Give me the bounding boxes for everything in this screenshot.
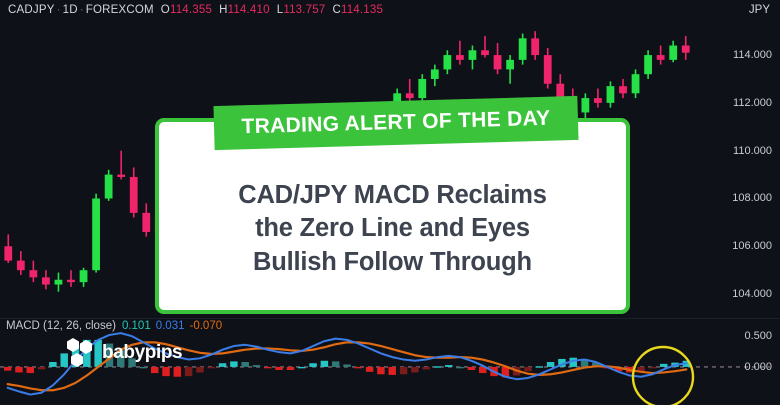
symbol-info: CADJPY·1D·FOREXCOMO114.355H114.410L113.7… [8,4,383,16]
macd-legend-title: MACD (12, 26, close) [6,320,116,332]
price-axis-tick: 110.000 [733,145,772,157]
header-separator-1: · [55,4,63,16]
symbol-name[interactable]: CADJPY [8,4,55,16]
price-axis-tick: 108.000 [732,192,772,204]
currency-code-label: JPY [749,4,770,16]
macd-axis-tick: 0.000 [744,361,772,373]
macd-hist-value: 0.101 [122,320,151,332]
babypips-wordmark: babypips [102,342,182,364]
panel-divider [0,318,780,319]
exchange-label[interactable]: FOREXCOM [86,4,154,16]
close-value: 114.135 [341,4,383,16]
high-value: 114.410 [228,4,270,16]
headline-line-3: Bullish Follow Through [253,246,532,279]
macd-legend[interactable]: MACD (12, 26, close)0.1010.031-0.070 [6,320,222,332]
alert-banner-text: TRADING ALERT OF THE DAY [241,107,551,140]
open-value: 114.355 [170,4,212,16]
macd-signal-value: -0.070 [190,320,223,332]
babypips-logo: babypips [62,338,182,368]
macd-axis-tick: 0.500 [744,330,772,342]
high-label: H [219,4,228,16]
timeframe-label[interactable]: 1D [63,4,78,16]
price-axis-tick: 106.000 [732,240,772,252]
hexagon-logo-icon [62,338,96,368]
chart-header: CADJPY·1D·FOREXCOMO114.355H114.410L113.7… [0,0,780,24]
price-axis-tick: 114.000 [733,49,772,61]
header-separator-2: · [78,4,86,16]
open-label: O [161,4,170,16]
trading-chart-screenshot: CADJPY·1D·FOREXCOMO114.355H114.410L113.7… [0,0,780,405]
macd-line-value: 0.031 [156,320,185,332]
headline-line-2: the Zero Line and Eyes [255,212,530,245]
low-value: 113.757 [283,4,325,16]
price-axis-tick: 104.000 [732,288,772,300]
close-label: C [332,4,341,16]
price-axis-tick: 112.000 [733,97,772,109]
headline-line-1: CAD/JPY MACD Reclaims [238,179,547,212]
